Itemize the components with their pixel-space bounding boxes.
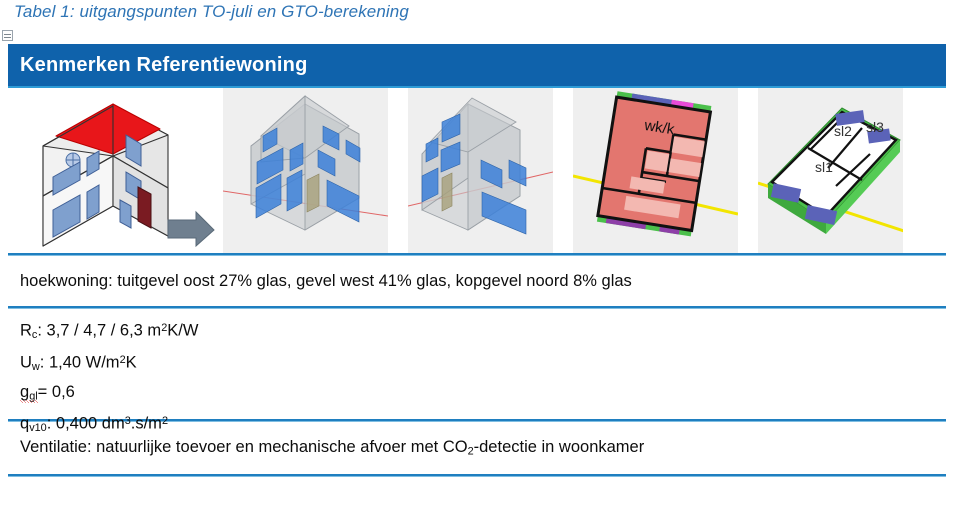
spec-uw-value: 1,40 W/m [49,354,120,372]
image-strip-row: wk/k [8,88,946,253]
facade-row: hoekwoning: tuitgevel oost 27% glas, gev… [8,256,946,306]
transparent-model-view-1 [223,88,388,253]
ventilation-pre: Ventilatie: natuurlijke toevoer en mecha… [20,438,468,456]
ground-floor-zone-plan: wk/k [573,88,738,253]
zone-label-sl3: sl3 [866,119,884,135]
first-floor-zone-plan: sl1 sl2 sl3 [758,88,903,253]
spec-rc-unit: K/W [167,322,198,340]
spec-uw-symbol: U [20,354,32,372]
spec-ggl-symbol: ggl [20,383,38,403]
spec-rc-value: 3,7 / 4,7 / 6,3 m [47,322,162,340]
spec-uw-sep: : [40,354,49,372]
transparent-model-view-2 [408,88,553,253]
reference-dwelling-3d-render [8,88,223,253]
ventilation-post: -detectie in woonkamer [474,438,645,456]
reference-dwelling-table: Kenmerken Referentiewoning [8,44,946,477]
spec-rc-sep: : [37,322,46,340]
table-caption: Tabel 1: uitgangspunten TO-juli en GTO-b… [14,2,409,22]
spec-ggl-value: 0,6 [52,383,75,401]
table-move-handle-icon[interactable] [2,30,13,41]
spec-uw-unit: K [126,354,137,372]
table-header-row: Kenmerken Referentiewoning [8,44,946,88]
spec-uw: Uw: 1,40 W/m2K [20,348,198,380]
spec-uw-sub: w [32,361,40,373]
spec-qv10: qv10: 0,400 dm3.s/m2 [20,409,198,441]
spec-ggl-sep: = [38,383,52,401]
spec-rc-symbol: R [20,322,32,340]
spec-qv10-sep: : [47,415,56,433]
zone-label-sl1: sl1 [815,159,833,175]
spec-ggl-sub: gl [29,390,37,402]
zone-label-sl2: sl2 [834,123,852,139]
specs-row: Rc: 3,7 / 4,7 / 6,3 m2K/W Uw: 1,40 W/m2K… [8,309,946,419]
spec-ggl: ggl= 0,6 [20,380,198,409]
spec-qv10-symbol: q [20,415,29,433]
facade-text: hoekwoning: tuitgevel oost 27% glas, gev… [8,272,632,291]
spec-qv10-sub: v10 [29,422,47,434]
specs-list: Rc: 3,7 / 4,7 / 6,3 m2K/W Uw: 1,40 W/m2K… [8,309,198,441]
table-header-title: Kenmerken Referentiewoning [8,54,308,77]
ventilation-text: Ventilatie: natuurlijke toevoer en mecha… [8,438,644,457]
divider-bottom [8,474,946,477]
table-page: Tabel 1: uitgangspunten TO-juli en GTO-b… [0,0,960,531]
spec-rc: Rc: 3,7 / 4,7 / 6,3 m2K/W [20,316,198,348]
spec-qv10-sup2: 2 [162,415,168,427]
spec-qv10-value: 0,400 dm [56,415,125,433]
spec-qv10-unit: .s/m [131,415,162,433]
